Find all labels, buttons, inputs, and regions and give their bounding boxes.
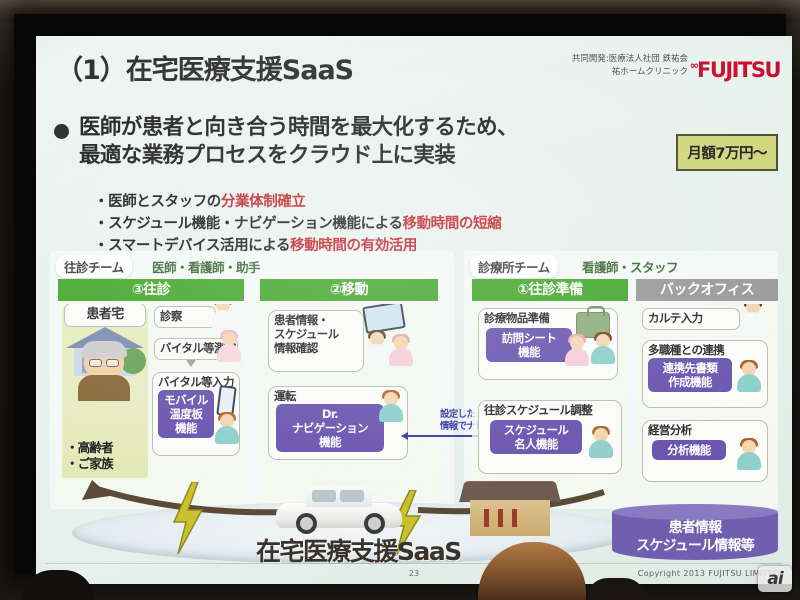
feature-dr-nav-line-1: Dr.	[281, 407, 379, 421]
patient-glasses-left	[89, 359, 102, 367]
tablet-icon	[362, 304, 406, 334]
feature-mobile-chart-line-2: 温度板	[163, 407, 209, 421]
patient-hair	[81, 341, 127, 358]
team-sub-clinic: 看護師・スタッフ	[582, 257, 678, 276]
avatar-staff-office-2	[736, 440, 762, 470]
lead-line-2: 最適な業務プロセスをクラウド上に実装	[79, 142, 518, 170]
feature-partner-doc: 連携先書類 作成機能	[648, 358, 732, 392]
chip-patient-home: 患者宅	[64, 304, 146, 327]
bullet-dot-icon	[54, 124, 69, 139]
feature-dr-navigation: Dr. ナビゲーション 機能	[276, 404, 384, 452]
sub-bullet-2: ・スケジュール機能・ナビゲーション機能による移動時間の短縮	[94, 213, 501, 235]
column-travel: ②移動 患者情報・ スケジュール 情報確認	[260, 279, 438, 504]
lead-line-1: 医師が患者と向き合う時間を最大化するため、	[79, 114, 518, 142]
footer-divider	[46, 563, 782, 564]
team-sub-visit: 医師・看護師・助手	[152, 257, 260, 276]
feature-dr-nav-line-2: ナビゲーション	[281, 421, 379, 435]
column-visit-prep: ①往診準備 診療物品準備 訪問シート 機能	[472, 279, 628, 504]
column-body-travel: 患者情報・ スケジュール 情報確認	[260, 304, 438, 504]
sub-bullet-2-prefix: ・スケジュール機能・ナビゲーション機能による	[94, 216, 402, 232]
co-development-note: 共同開発:医療法人社団 鉄祐会 祐ホームクリニック	[572, 53, 688, 79]
chip-check-line-3: 情報確認	[274, 342, 358, 356]
feature-partner-doc-line-2: 作成機能	[653, 375, 727, 389]
car-illustration	[276, 488, 402, 536]
feature-visit-sheet: 訪問シート 機能	[486, 328, 572, 362]
chip-business-analysis-label: 経営分析	[648, 423, 692, 437]
feature-analysis: 分析機能	[652, 440, 726, 460]
price-badge: 月額7万円～	[676, 134, 778, 171]
fujitsu-wordmark: FUJITSU	[697, 58, 780, 82]
chip-check-line-2: スケジュール	[274, 328, 358, 342]
database-label: 患者情報 スケジュール情報等	[612, 520, 778, 555]
clinic-window-2	[498, 509, 503, 527]
column-body-back-office: カルテ入力 多職種との連携 連携先書類 作成機能	[636, 304, 778, 504]
avatar-body	[565, 348, 589, 366]
patient-note-2: ・ご家族	[66, 456, 113, 472]
avatar-nurse-travel	[388, 336, 414, 366]
chip-check-line-1: 患者情報・	[274, 314, 358, 328]
clinic-roof	[459, 481, 561, 502]
avatar-assistant-visit	[214, 414, 240, 444]
column-home-visit: ③往診	[58, 279, 244, 504]
feature-dr-nav-line-3: 機能	[281, 435, 379, 449]
chip-driving-label: 運転	[274, 389, 296, 403]
database-label-line-2: スケジュール情報等	[612, 538, 778, 556]
chip-examination: 診察	[154, 306, 216, 328]
avatar-body	[215, 426, 239, 444]
avatar-doctor-visit	[210, 304, 236, 328]
sub-bullet-1-prefix: ・医師とスタッフの	[94, 194, 221, 210]
avatar-doctor-office	[740, 304, 766, 330]
fujitsu-infinity-mark: ∞	[690, 59, 697, 72]
column-body-home-visit: ・高齢者 ・ご家族 患者宅 診察 バイタル等測定	[58, 304, 244, 504]
column-head-back-office: バックオフィス	[636, 279, 778, 301]
column-head-home-visit: ③往診	[58, 279, 244, 301]
avatar-body	[389, 348, 413, 366]
audience-silhouette-right	[586, 578, 646, 600]
avatar-body	[379, 404, 403, 422]
avatar-body	[591, 346, 615, 364]
elderly-patient-avatar	[78, 342, 130, 400]
avatar-body	[737, 452, 761, 470]
clinic-building-illustration	[462, 480, 558, 538]
patient-home-notes: ・高齢者 ・ご家族	[66, 440, 113, 473]
feature-schedule-master: スケジュール 名人機能	[490, 420, 582, 454]
avatar-body	[741, 312, 765, 330]
feature-visit-sheet-line-1: 訪問シート	[491, 331, 567, 345]
feature-analysis-line-1: 分析機能	[657, 443, 721, 457]
column-body-visit-prep: 診療物品準備 訪問シート 機能	[472, 304, 628, 504]
car-window-rear	[340, 490, 364, 502]
avatar-body	[737, 374, 761, 392]
database-label-line-1: 患者情報	[612, 520, 778, 538]
avatar-staff-prep	[590, 334, 616, 364]
chip-check-patient-info: 患者情報・ スケジュール 情報確認	[268, 310, 364, 372]
feature-mobile-chart: モバイル 温度板 機能	[158, 390, 214, 438]
feature-mobile-chart-line-3: 機能	[163, 421, 209, 435]
sub-bullet-2-highlight: 移動時間の短縮	[402, 216, 501, 232]
car-cabin	[306, 486, 372, 507]
avatar-nurse-prep	[564, 336, 590, 366]
projector-screen-frame: （1）在宅医療支援SaaS 共同開発:医療法人社団 鉄祐会 祐ホームクリニック …	[14, 14, 786, 574]
site-watermark: ai	[758, 566, 792, 592]
avatar-staff-schedule	[588, 428, 614, 458]
flow-arrow-down	[186, 360, 196, 367]
car-wheel-front	[296, 513, 317, 534]
avatar-body	[365, 344, 389, 362]
feature-visit-sheet-line-2: 機能	[491, 345, 567, 359]
projection-room: （1）在宅医療支援SaaS 共同開発:医療法人社団 鉄祐会 祐ホームクリニック …	[0, 0, 800, 600]
sub-bullet-1-highlight: 分業体制確立	[221, 194, 306, 210]
clinic-wall	[470, 500, 550, 536]
chip-multi-profession-label: 多職種との連携	[648, 343, 724, 357]
clinic-window-1	[484, 509, 489, 527]
patient-body	[78, 375, 130, 401]
chip-schedule-adjust-label: 往診スケジュール調整	[484, 403, 592, 417]
co-development-line-2: 祐ホームクリニック	[572, 66, 688, 79]
patient-home-illustration: ・高齢者 ・ご家族	[62, 308, 148, 478]
team-tag-visit: 往診チーム	[56, 255, 132, 278]
team-tag-clinic: 診療所チーム	[470, 255, 558, 278]
chip-supply-prep-label: 診療物品準備	[484, 311, 549, 325]
feature-schedule-master-line-1: スケジュール	[495, 423, 577, 437]
avatar-body	[589, 440, 613, 458]
lead-bullet-text: 医師が患者と向き合う時間を最大化するため、 最適な業務プロセスをクラウド上に実装	[79, 114, 518, 171]
patient-glasses-right	[106, 359, 119, 367]
avatar-body	[211, 310, 235, 328]
avatar-nurse-visit	[216, 332, 242, 362]
patient-note-1: ・高齢者	[66, 440, 113, 456]
co-development-line-1: 共同開発:医療法人社団 鉄祐会	[572, 53, 688, 66]
feature-schedule-master-line-2: 名人機能	[495, 437, 577, 451]
feature-mobile-chart-line-1: モバイル	[163, 393, 209, 407]
column-back-office: バックオフィス カルテ入力 多職種との連携 連携先書類	[636, 279, 778, 504]
column-head-travel: ②移動	[260, 279, 438, 301]
car-window-front	[312, 490, 336, 502]
clinic-window-3	[512, 509, 517, 527]
avatar-body	[217, 344, 241, 362]
fujitsu-logo: ∞FUJITSU	[690, 58, 780, 82]
feature-partner-doc-line-1: 連携先書類	[653, 361, 727, 375]
avatar-staff-office-1	[736, 362, 762, 392]
car-wheel-rear	[364, 513, 385, 534]
lead-bullet: 医師が患者と向き合う時間を最大化するため、 最適な業務プロセスをクラウド上に実装	[54, 114, 674, 171]
presentation-slide: （1）在宅医療支援SaaS 共同開発:医療法人社団 鉄祐会 祐ホームクリニック …	[36, 36, 792, 584]
database-cylinder: 患者情報 スケジュール情報等	[612, 504, 778, 566]
column-head-visit-prep: ①往診準備	[472, 279, 628, 301]
chip-chart-entry: カルテ入力	[642, 308, 740, 330]
avatar-doctor-travel	[364, 332, 390, 362]
page-number: 23	[409, 569, 419, 578]
avatar-driver	[378, 392, 404, 422]
sub-bullet-1: ・医師とスタッフの分業体制確立	[94, 191, 501, 213]
sub-bullet-list: ・医師とスタッフの分業体制確立 ・スケジュール機能・ナビゲーション機能による移動…	[94, 191, 501, 257]
database-top	[612, 504, 778, 520]
slide-title: （1）在宅医療支援SaaS	[56, 48, 353, 87]
